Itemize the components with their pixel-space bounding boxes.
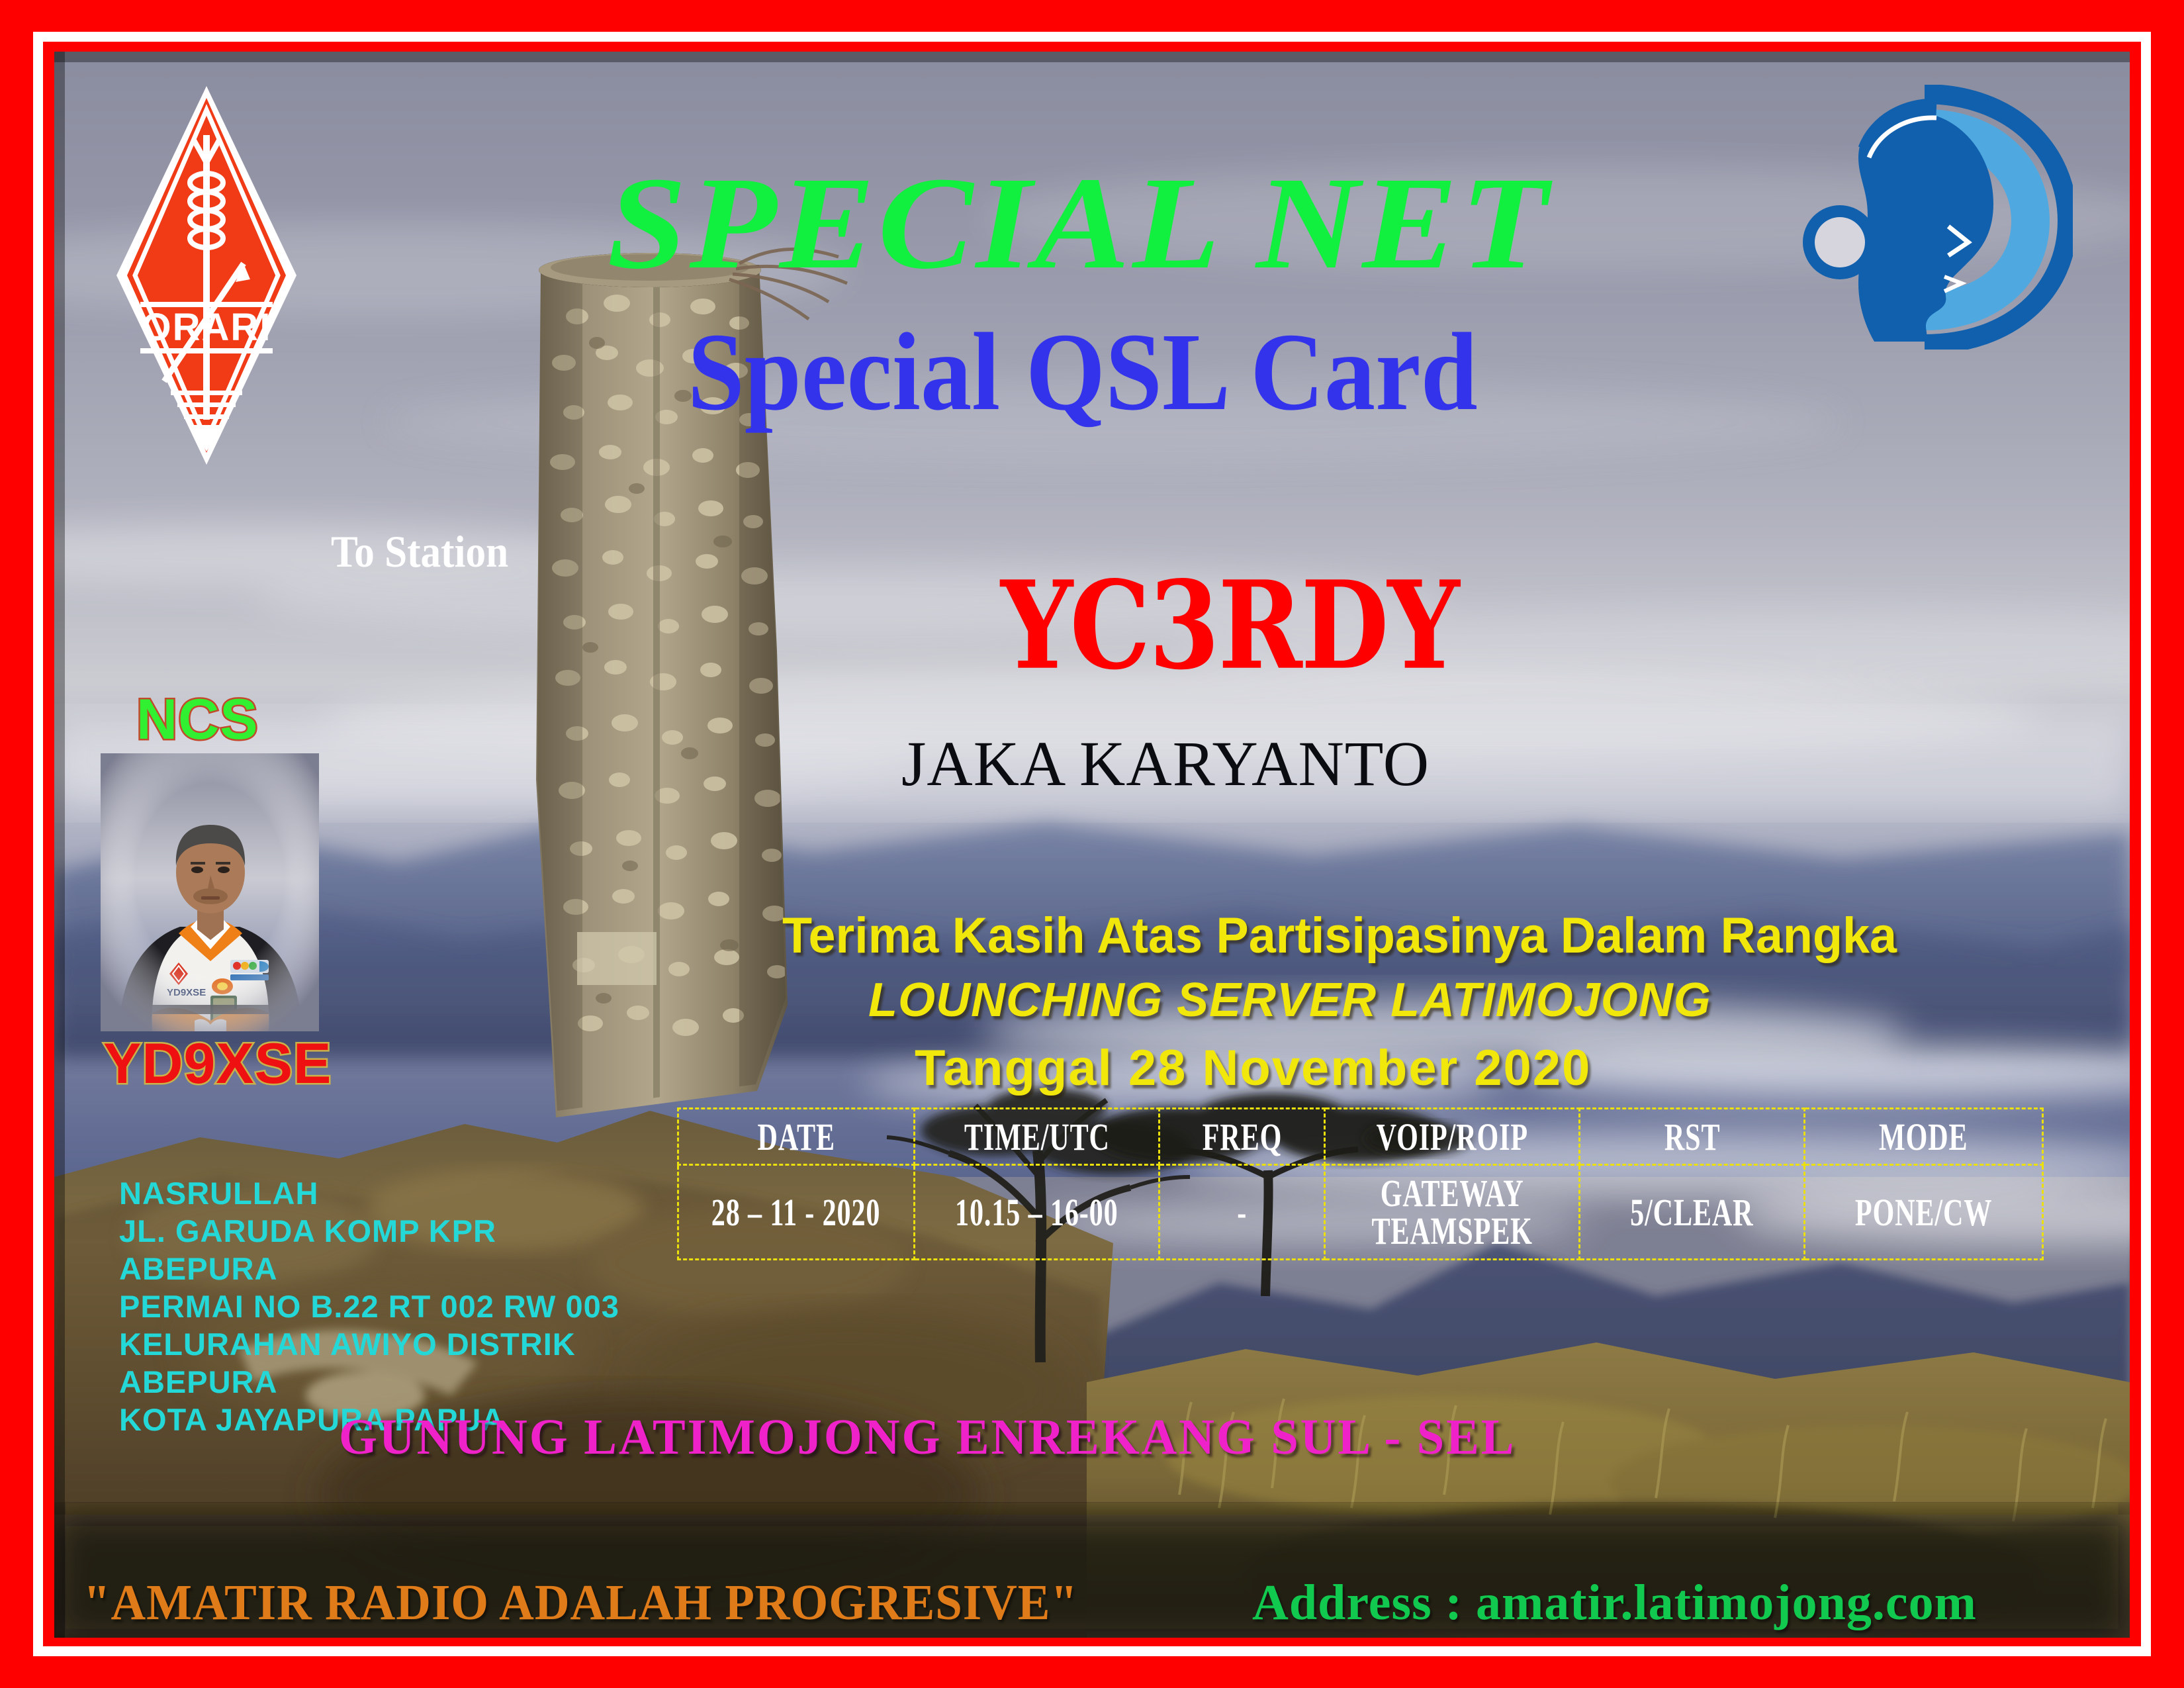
ncs-callsign: YD9XSE [103, 1031, 332, 1097]
subtitle: Special QSL Card [54, 316, 2130, 428]
address-line: PERMAI NO B.22 RT 002 RW 003 [119, 1288, 619, 1325]
cell-mode: PONE/CW [1805, 1165, 2043, 1260]
cell-voip: GATEWAY TEAMSPEK [1325, 1165, 1580, 1260]
qsl-card: ORARI [0, 0, 2184, 1688]
column-header-date: DATE [678, 1109, 915, 1165]
qso-log-table: DATE TIME/UTC FREQ VOIP/ROIP RST MODE 28… [677, 1107, 2044, 1260]
thanks-line-3: Tanggal 28 November 2020 [915, 1039, 1591, 1097]
column-header-freq: FREQ [1160, 1109, 1325, 1165]
table-row: 28 – 11 - 2020 10.15 – 16-00 - GATEWAY T… [678, 1165, 2043, 1260]
footer-motto: "AMATIR RADIO ADALAH PROGRESIVE" [83, 1574, 1078, 1632]
return-address-block: NASRULLAH JL. GARUDA KOMP KPR ABEPURA PE… [119, 1174, 619, 1438]
column-header-rst: RST [1580, 1109, 1805, 1165]
cell-date: 28 – 11 - 2020 [678, 1165, 915, 1260]
cell-freq: - [1160, 1165, 1325, 1260]
page-title: SPECIAL NET [54, 158, 2130, 290]
to-station-label: To Station [331, 526, 508, 578]
address-line: ABEPURA [119, 1363, 619, 1401]
table-header-row: DATE TIME/UTC FREQ VOIP/ROIP RST MODE [678, 1109, 2043, 1165]
ncs-badge-label: NCS [136, 687, 259, 753]
location-line: GUNUNG LATIMOJONG ENREKANG SUL - SEL [339, 1409, 1516, 1466]
column-header-mode: MODE [1805, 1109, 2043, 1165]
cell-time: 10.15 – 16-00 [915, 1165, 1160, 1260]
recipient-callsign: YC3RDY [1001, 555, 1459, 697]
column-header-time: TIME/UTC [915, 1109, 1160, 1165]
address-line: NASRULLAH [119, 1174, 619, 1212]
footer-web-address: Address : amatir.latimojong.com [1252, 1574, 1977, 1632]
address-line: ABEPURA [119, 1250, 619, 1288]
ncs-operator-portrait: YD9XSE [101, 753, 319, 1031]
recipient-operator-name: JAKA KARYANTO [901, 727, 1430, 800]
cell-rst: 5/CLEAR [1580, 1165, 1805, 1260]
address-line: KELURAHAN AWIYO DISTRIK [119, 1325, 619, 1363]
thanks-line-1: Terima Kasih Atas Partisipasinya Dalam R… [782, 907, 1897, 964]
address-line: JL. GARUDA KOMP KPR [119, 1212, 619, 1250]
column-header-voip: VOIP/ROIP [1325, 1109, 1580, 1165]
thanks-line-2: LOUNCHING SERVER LATIMOJONG [868, 973, 1711, 1027]
